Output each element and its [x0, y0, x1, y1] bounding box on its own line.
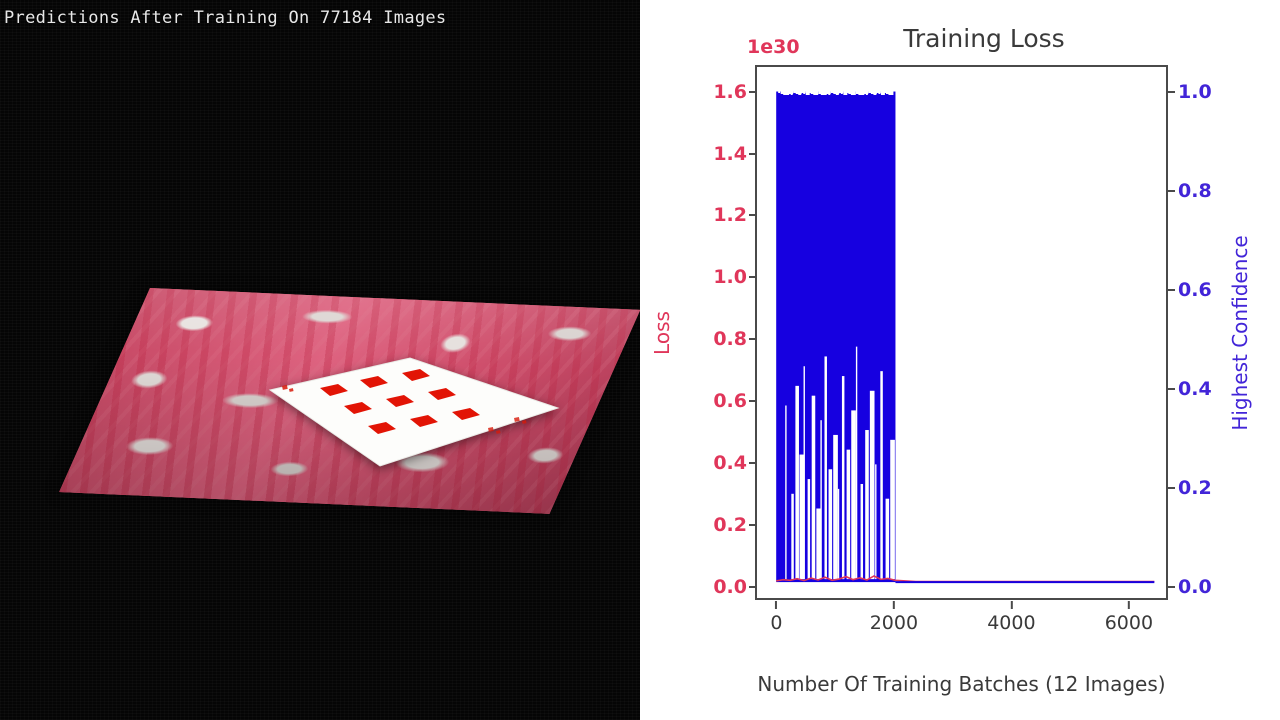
confidence-top-notch	[778, 91, 780, 93]
tick-mark	[1167, 289, 1175, 291]
confidence-top-notch	[791, 91, 793, 95]
right-axis-label: Highest Confidence	[1228, 235, 1252, 430]
training-loss-chart-panel: Training Loss 1e30 Loss Highest Confiden…	[640, 0, 1280, 720]
left-axis-exponent-label: 1e30	[747, 36, 800, 58]
confidence-gap-column	[886, 499, 890, 579]
tick-mark	[749, 400, 757, 402]
confidence-top-notch	[828, 91, 830, 95]
left-axis-tick: 1.6	[713, 81, 747, 103]
tick-mark	[1128, 601, 1130, 609]
tick-mark	[1167, 487, 1175, 489]
confidence-gap-column	[812, 396, 816, 579]
right-axis-tick: 0.0	[1178, 576, 1212, 598]
confidence-top-notch	[803, 91, 805, 94]
confidence-gap-column	[804, 366, 805, 579]
left-axis-tick: 0.2	[713, 514, 747, 536]
tick-mark	[1167, 388, 1175, 390]
confidence-gap-column	[842, 376, 844, 579]
confidence-gap-column	[851, 410, 856, 579]
right-axis-tick: 0.4	[1178, 378, 1212, 400]
highest-confidence-series	[776, 91, 895, 582]
confidence-gap-column	[816, 509, 821, 580]
confidence-gap-column	[785, 405, 786, 579]
confidence-gap-column	[791, 494, 793, 579]
tick-mark	[749, 276, 757, 278]
plot-clip-region	[757, 67, 1166, 598]
tick-mark	[1167, 586, 1175, 588]
playing-card	[262, 356, 562, 468]
confidence-top-notch	[891, 91, 893, 93]
overlay-title: Predictions After Training On 77184 Imag…	[4, 8, 446, 28]
tick-mark	[749, 153, 757, 155]
confidence-gap-column	[856, 347, 857, 580]
left-axis-tick: 1.0	[713, 266, 747, 288]
tick-mark	[1167, 190, 1175, 192]
tick-mark	[749, 462, 757, 464]
chart-title: Training Loss	[640, 24, 1280, 53]
left-axis-tick: 1.2	[713, 204, 747, 226]
right-axis-tick: 0.2	[1178, 477, 1212, 499]
confidence-gap-column	[829, 469, 833, 579]
screenshot-root: Predictions After Training On 77184 Imag…	[0, 0, 1280, 720]
confidence-gap-column	[824, 356, 826, 579]
tick-mark	[775, 601, 777, 609]
x-axis-tick: 4000	[987, 612, 1035, 634]
confidence-gap-column	[820, 420, 821, 579]
tick-mark	[1010, 601, 1012, 609]
tick-mark	[749, 214, 757, 216]
tick-mark	[749, 524, 757, 526]
confidence-gap-column	[808, 479, 810, 579]
confidence-top-notch	[853, 91, 855, 93]
right-axis-tick: 0.6	[1178, 279, 1212, 301]
confidence-gap-column	[847, 450, 851, 579]
confidence-gap-column	[875, 464, 876, 579]
left-axis-tick: 0.6	[713, 390, 747, 412]
confidence-gap-column	[880, 371, 882, 579]
confidence-top-notch	[878, 91, 880, 94]
tick-mark	[749, 91, 757, 93]
tick-mark	[749, 586, 757, 588]
right-axis-tick: 1.0	[1178, 81, 1212, 103]
x-axis-tick: 0	[770, 612, 782, 634]
tick-mark	[893, 601, 895, 609]
confidence-gap-column	[870, 391, 875, 579]
x-axis-label: Number Of Training Batches (12 Images)	[755, 672, 1168, 696]
confidence-gap-column	[833, 435, 838, 579]
confidence-gap-column	[861, 484, 863, 579]
left-axis-tick: 0.4	[713, 452, 747, 474]
tick-mark	[1167, 91, 1175, 93]
confidence-top-notch	[816, 91, 818, 93]
left-axis-tick: 0.8	[713, 328, 747, 350]
series-layer	[757, 67, 1166, 597]
confidence-gap-column	[795, 386, 799, 579]
left-axis-label: Loss	[650, 311, 674, 355]
confidence-gap-column	[890, 440, 895, 579]
plot-area: 0.00.20.40.60.81.01.21.41.6 0.00.20.40.6…	[755, 65, 1168, 600]
confidence-gap-column	[799, 455, 804, 580]
left-axis-tick: 0.0	[713, 576, 747, 598]
confidence-top-notch	[841, 91, 843, 94]
tick-mark	[749, 338, 757, 340]
confidence-gap-column	[865, 430, 869, 579]
prediction-render-panel: Predictions After Training On 77184 Imag…	[0, 0, 640, 720]
confidence-gap-column	[838, 489, 839, 579]
x-axis-tick: 6000	[1105, 612, 1153, 634]
x-axis-tick: 2000	[870, 612, 918, 634]
left-axis-tick: 1.4	[713, 143, 747, 165]
confidence-top-notch	[866, 91, 868, 95]
right-axis-tick: 0.8	[1178, 180, 1212, 202]
